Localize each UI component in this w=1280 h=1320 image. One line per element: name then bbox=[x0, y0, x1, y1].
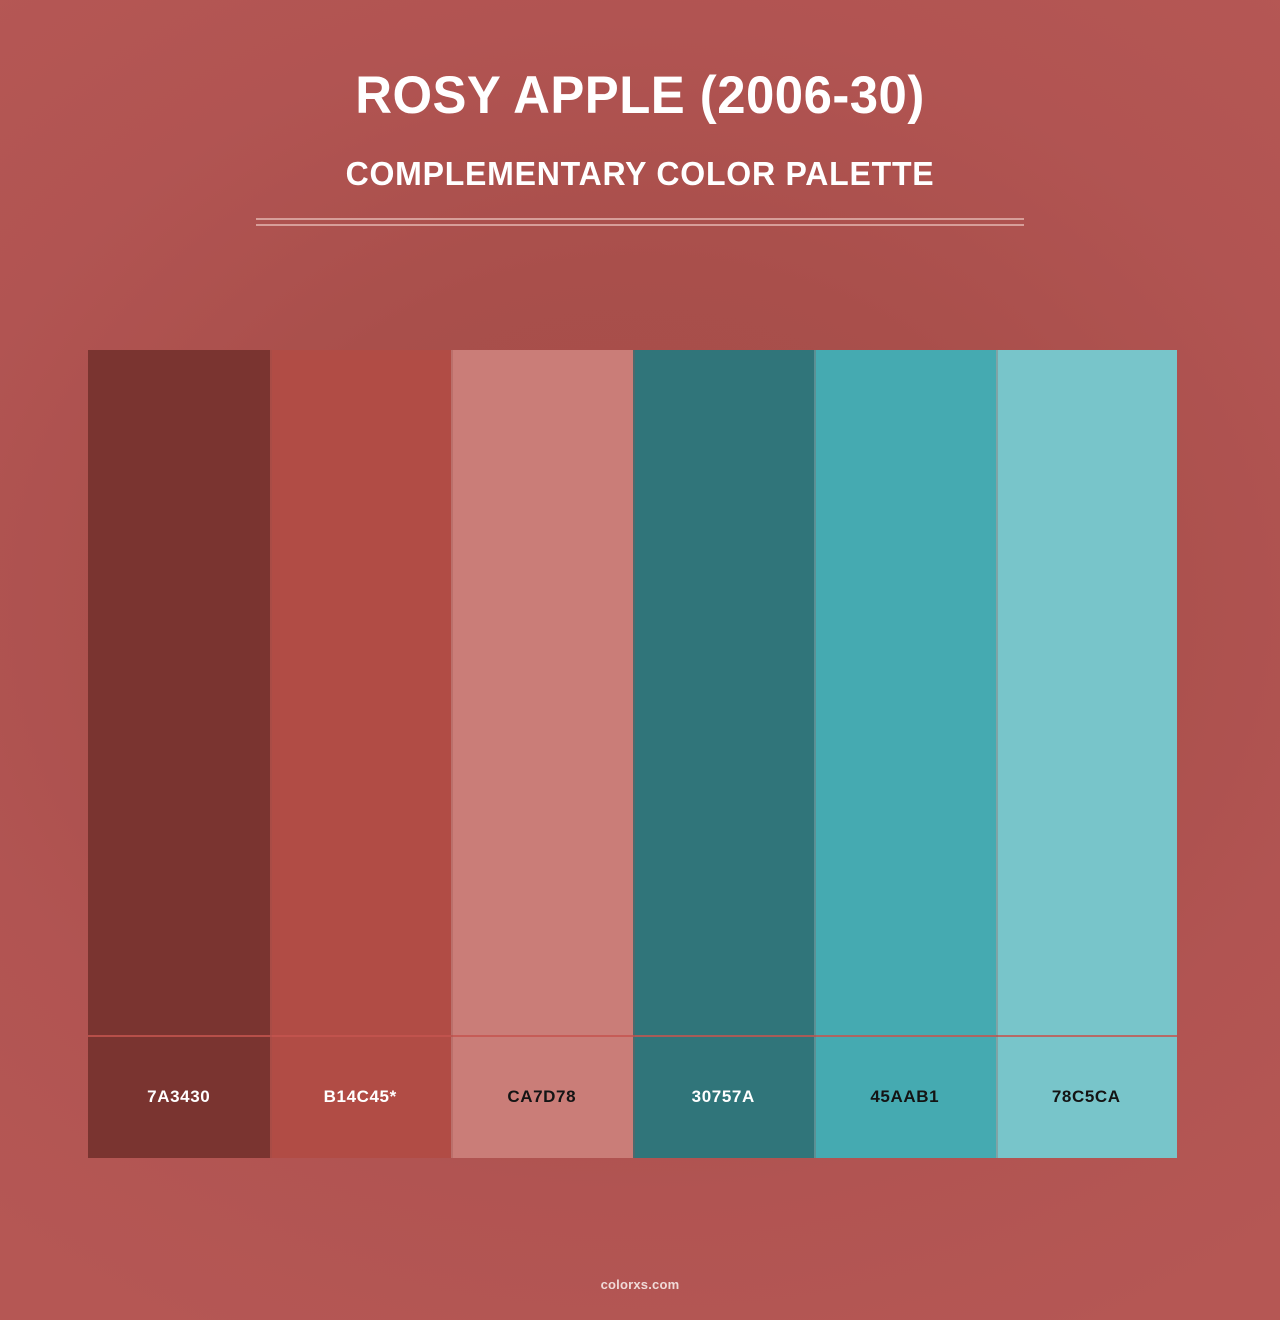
footer-site-label: colorxs.com bbox=[601, 1277, 680, 1292]
page-footer: colorxs.com bbox=[0, 1276, 1280, 1294]
swatch-label-band[interactable]: 7A3430 bbox=[88, 1035, 270, 1158]
color-swatch[interactable]: 30757A bbox=[633, 350, 815, 1158]
divider-line-bottom bbox=[256, 224, 1024, 226]
swatch-color-block[interactable] bbox=[451, 350, 633, 1035]
swatch-label-band[interactable]: CA7D78 bbox=[451, 1035, 633, 1158]
color-swatch[interactable]: 45AAB1 bbox=[814, 350, 996, 1158]
swatch-label-band[interactable]: 78C5CA bbox=[996, 1035, 1178, 1158]
color-swatch[interactable]: B14C45* bbox=[270, 350, 452, 1158]
swatch-hex-label: 7A3430 bbox=[147, 1087, 210, 1107]
page-title: ROSY APPLE (2006-30) bbox=[26, 68, 1255, 124]
swatch-hex-label: 30757A bbox=[692, 1087, 755, 1107]
palette-header: ROSY APPLE (2006-30) COMPLEMENTARY COLOR… bbox=[0, 0, 1280, 227]
divider-line-top bbox=[256, 218, 1024, 220]
color-swatch[interactable]: 78C5CA bbox=[996, 350, 1178, 1158]
color-swatch[interactable]: 7A3430 bbox=[88, 350, 270, 1158]
swatch-color-block[interactable] bbox=[88, 350, 270, 1035]
swatch-color-block[interactable] bbox=[814, 350, 996, 1035]
swatch-hex-label: 45AAB1 bbox=[870, 1087, 939, 1107]
swatch-hex-label: B14C45* bbox=[324, 1087, 397, 1107]
swatch-label-band[interactable]: 45AAB1 bbox=[814, 1035, 996, 1158]
swatch-label-band[interactable]: 30757A bbox=[633, 1035, 815, 1158]
swatch-hex-label: 78C5CA bbox=[1052, 1087, 1121, 1107]
swatch-color-block[interactable] bbox=[270, 350, 452, 1035]
swatch-hex-label: CA7D78 bbox=[507, 1087, 576, 1107]
swatch-color-block[interactable] bbox=[633, 350, 815, 1035]
page-subtitle: COMPLEMENTARY COLOR PALETTE bbox=[19, 155, 1261, 193]
swatch-color-block[interactable] bbox=[996, 350, 1178, 1035]
color-palette: 7A3430B14C45*CA7D7830757A45AAB178C5CA bbox=[88, 350, 1177, 1158]
color-swatch[interactable]: CA7D78 bbox=[451, 350, 633, 1158]
swatch-label-band[interactable]: B14C45* bbox=[270, 1035, 452, 1158]
header-divider bbox=[256, 218, 1024, 227]
